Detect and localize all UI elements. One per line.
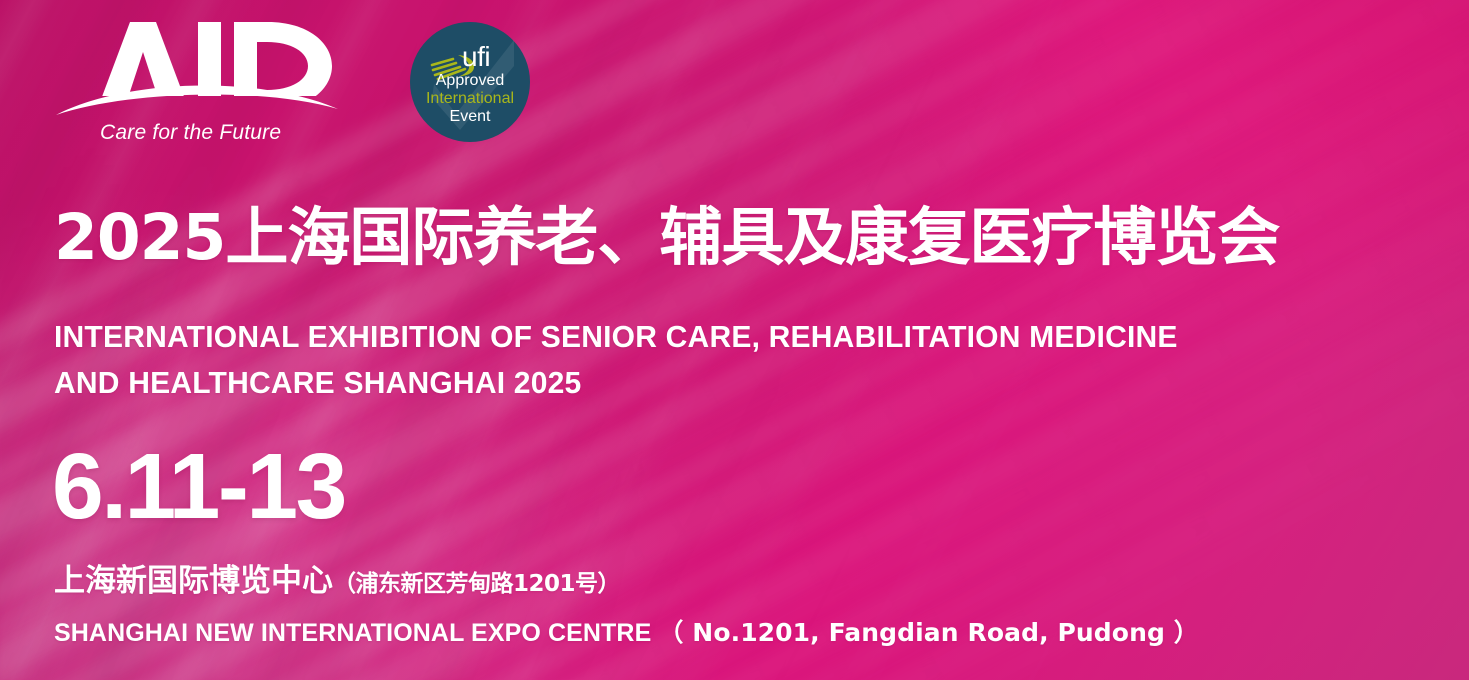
ufi-badge-line3: Event (410, 108, 530, 127)
aid-tagline: Care for the Future (100, 121, 281, 145)
venue-english: SHANGHAI NEW INTERNATIONAL EXPO CENTRE （… (54, 620, 1199, 646)
event-title-chinese: 2025上海国际养老、辅具及康复医疗博览会 (54, 206, 1279, 269)
event-banner: Care for the Future ufi Approved (0, 0, 1469, 680)
aid-logo: Care for the Future (52, 14, 372, 146)
ufi-badge-line2: International (410, 90, 530, 109)
venue-name-chinese: 上海新国际博览中心 (54, 563, 333, 599)
ufi-approved-badge: ufi Approved International Event (410, 22, 530, 142)
venue-address-english: （ No.1201, Fangdian Road, Pudong ） (658, 618, 1198, 647)
ufi-brand-text: ufi (462, 43, 490, 71)
venue-address-chinese: （浦东新区芳甸路1201号） (333, 571, 620, 597)
event-date: 6.11-13 (52, 440, 345, 533)
event-title-english: INTERNATIONAL EXHIBITION OF SENIOR CARE,… (54, 314, 1178, 407)
venue-name-english: SHANGHAI NEW INTERNATIONAL EXPO CENTRE (54, 619, 651, 647)
event-title-english-line2: AND HEALTHCARE SHANGHAI 2025 (54, 360, 1178, 406)
event-title-english-line1: INTERNATIONAL EXHIBITION OF SENIOR CARE,… (54, 320, 1178, 354)
ufi-badge-line1: Approved (410, 72, 530, 91)
venue-chinese: 上海新国际博览中心（浦东新区芳甸路1201号） (54, 566, 620, 597)
